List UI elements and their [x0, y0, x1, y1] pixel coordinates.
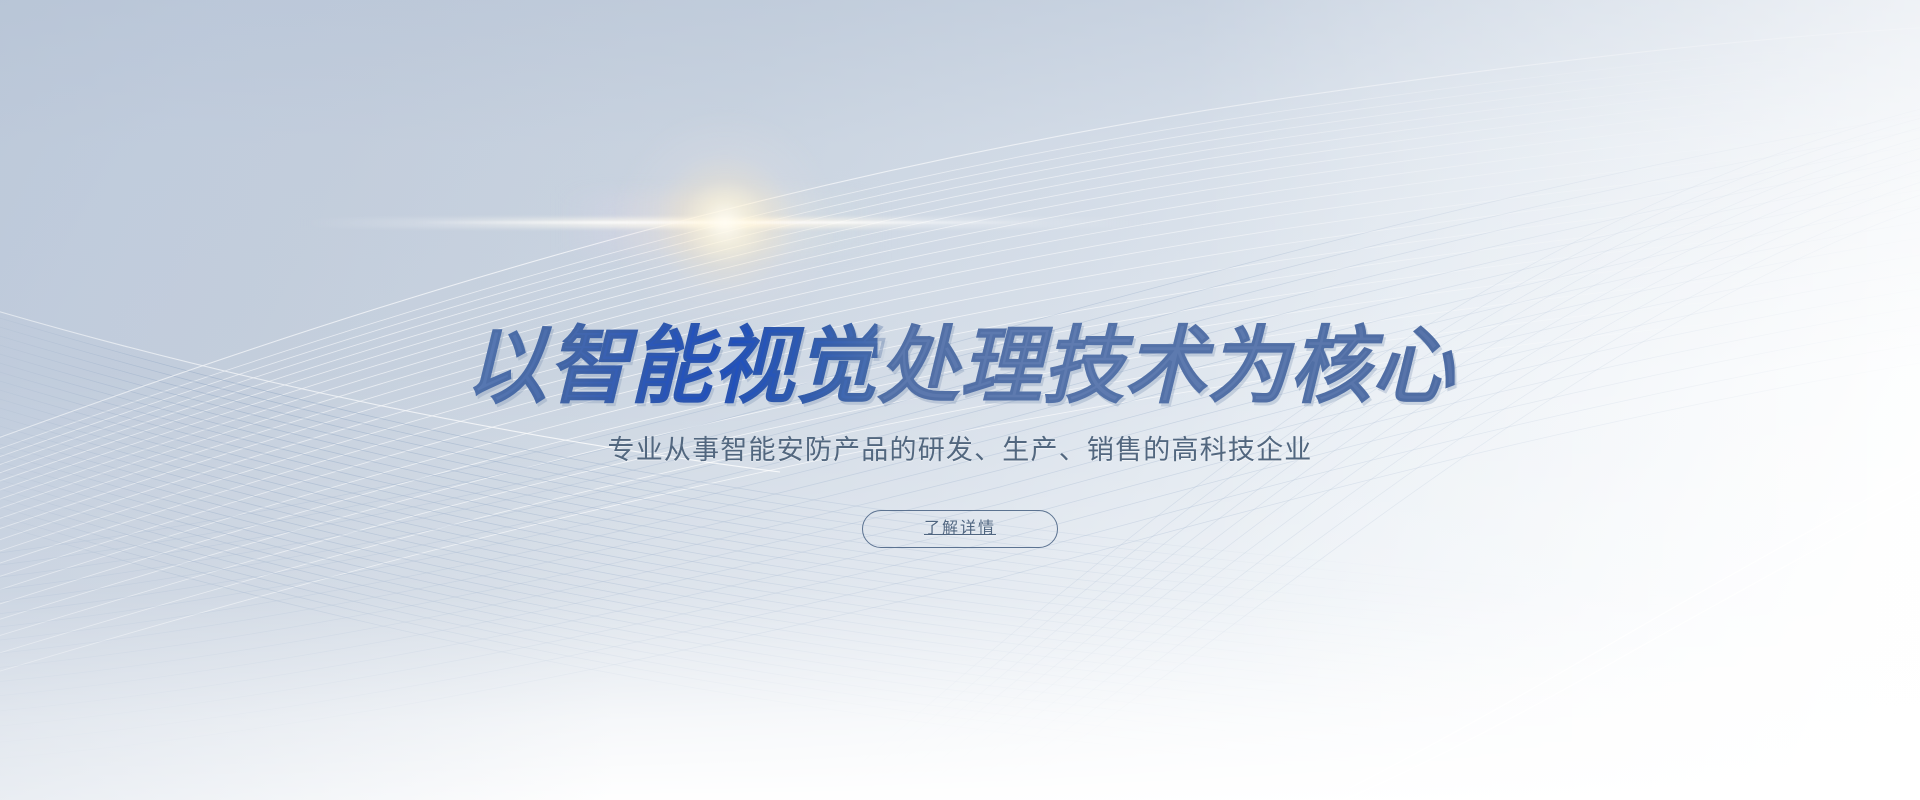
hero-banner: 以智能视觉处理技术为核心 专业从事智能安防产品的研发、生产、销售的高科技企业 了…	[0, 0, 1920, 800]
hero-content: 以智能视觉处理技术为核心 专业从事智能安防产品的研发、生产、销售的高科技企业 了…	[0, 0, 1920, 800]
hero-subtitle: 专业从事智能安防产品的研发、生产、销售的高科技企业	[0, 431, 1920, 469]
cta-container: 了解详情	[0, 510, 1920, 548]
headline-segment-primary: 以智能视觉	[465, 318, 877, 414]
learn-more-button[interactable]: 了解详情	[862, 510, 1058, 548]
headline-segment-secondary: 处理技术为核心	[878, 318, 1455, 414]
page-title: 以智能视觉处理技术为核心	[29, 318, 1891, 414]
